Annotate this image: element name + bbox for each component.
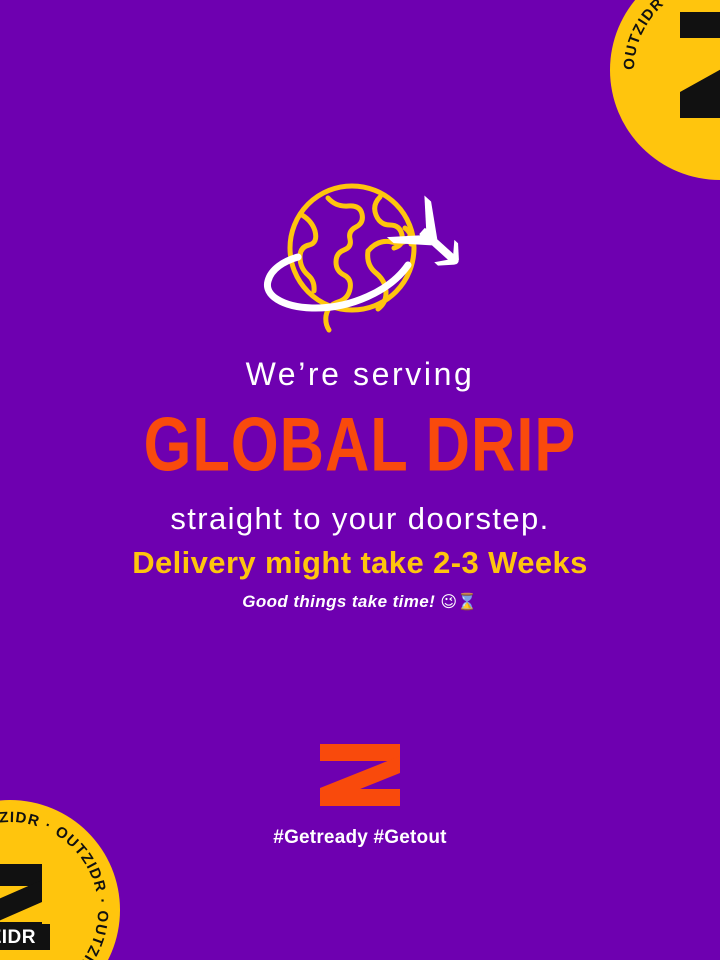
poster-canvas: OUTZIDR · OUTZIDR · OUTZIDR · OUTZIDR · …: [0, 0, 720, 960]
outzidr-badge-top-right: OUTZIDR · OUTZIDR · OUTZIDR · OUTZIDR ·: [610, 0, 720, 180]
delivery-notice-group: Delivery might take 2-3 Weeks Good thing…: [0, 546, 720, 612]
badge-wordmark: OUTZIDR: [0, 924, 50, 950]
wink-hourglass-emoji: 😉⌛: [440, 592, 477, 611]
subhead-text: straight to your doorstep.: [0, 503, 720, 536]
outzidr-z-mark: [680, 12, 720, 118]
hero-illustration: [0, 168, 720, 348]
footer-group: #Getready #Getout: [0, 744, 720, 849]
delivery-headline: Delivery might take 2-3 Weeks: [0, 546, 720, 580]
hashtags-text: #Getready #Getout: [0, 827, 720, 849]
outzidr-z-logo: [320, 744, 400, 806]
delivery-note-text: Good things take time!: [242, 592, 435, 611]
headline-group: We’re serving GLOBAL DRIP straight to yo…: [0, 358, 720, 535]
eyebrow-text: We’re serving: [0, 358, 720, 392]
delivery-note: Good things take time! 😉⌛: [0, 592, 720, 612]
globe-airplane-icon: [240, 173, 480, 343]
headline-text: GLOBAL DRIP: [4, 406, 717, 485]
svg-text:OUTZIDR: OUTZIDR: [0, 927, 36, 948]
